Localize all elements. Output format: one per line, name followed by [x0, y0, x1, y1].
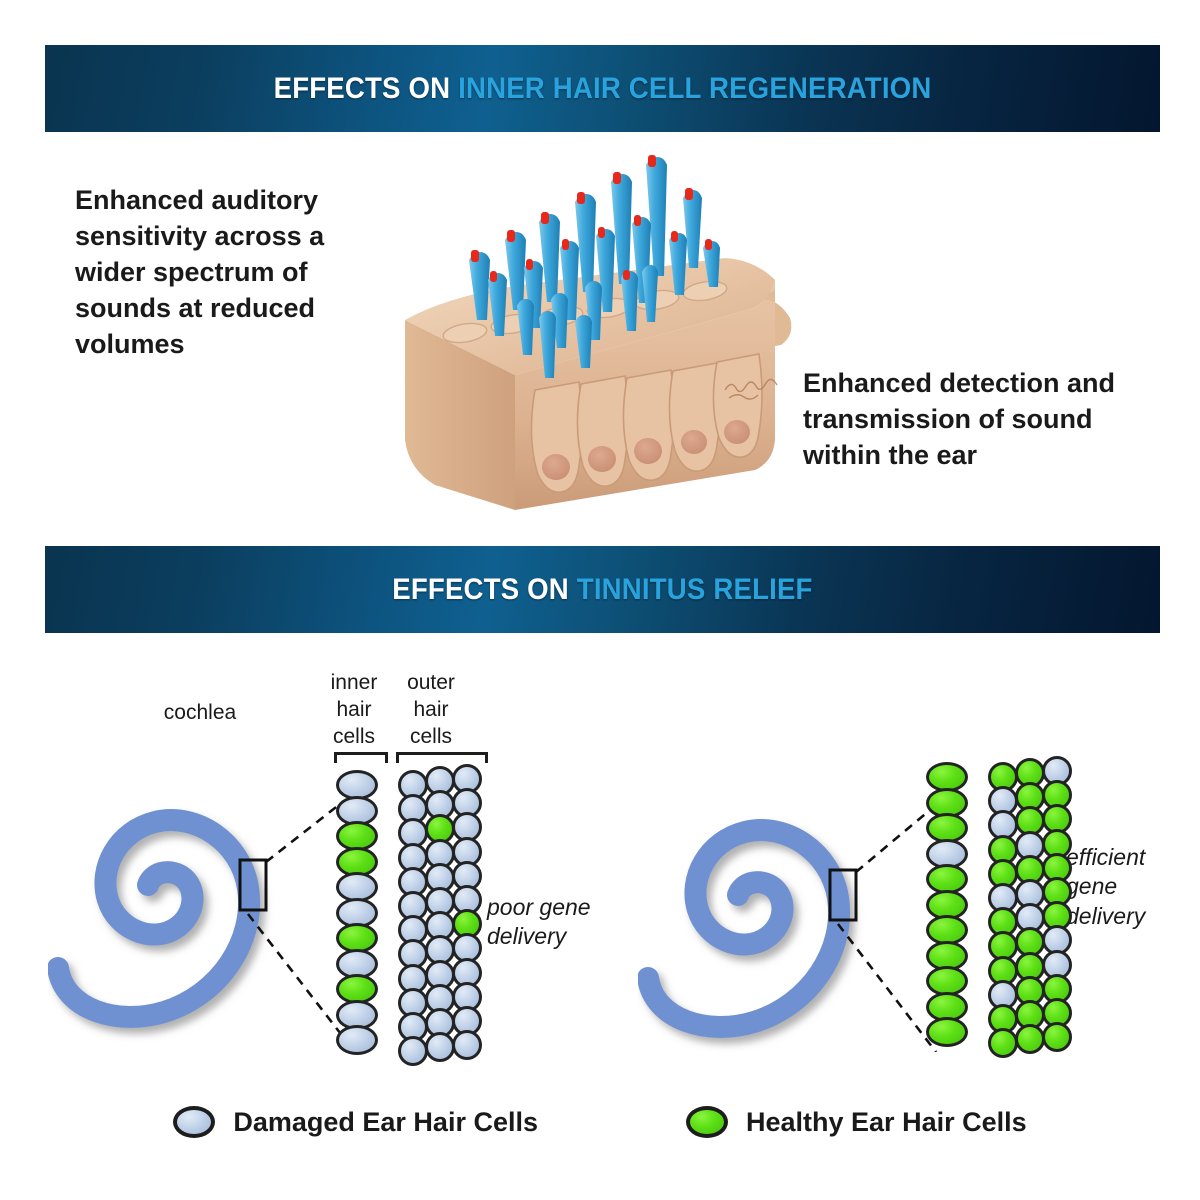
legend-item-healthy: Healthy Ear Hair Cells: [686, 1106, 1027, 1138]
legend-label-damaged: Damaged Ear Hair Cells: [233, 1107, 538, 1138]
banner-1-prefix: EFFECTS ON: [274, 72, 459, 105]
label-poor-gene-delivery: poor gene delivery: [487, 893, 617, 952]
banner-2-accent: TINNITUS RELIEF: [577, 573, 813, 606]
right-outer-hair-cell: [1015, 1024, 1045, 1054]
left-outer-hair-cell: [452, 1030, 482, 1060]
bracket-inner-hair-cells-left: [334, 752, 388, 763]
cell-grid-right: [890, 762, 1080, 1074]
banner-1-accent: INNER HAIR CELL REGENERATION: [458, 72, 931, 105]
hair-cell-columns-left: [300, 770, 490, 1070]
cell-grid-left: [300, 752, 490, 1072]
left-outer-hair-cell: [398, 1036, 428, 1066]
left-outer-hair-cell: [425, 1032, 455, 1062]
right-inner-hair-cell: [926, 1017, 968, 1047]
left-inner-hair-cell: [336, 1025, 378, 1055]
hair-cell-columns-right: [890, 762, 1080, 1062]
label-inner-hair-cells: inner hair cells: [318, 670, 390, 751]
cochlea-spiral-path-right: [648, 830, 839, 1027]
banner-2-text: EFFECTS ON TINNITUS RELIEF: [392, 573, 812, 607]
bracket-outer-hair-cells-left: [396, 752, 488, 763]
banner-inner-hair-cell-regeneration: EFFECTS ON INNER HAIR CELL REGENERATION: [45, 45, 1160, 132]
text-enhanced-auditory-sensitivity: Enhanced auditory sensitivity across a w…: [75, 183, 395, 363]
legend-label-healthy: Healthy Ear Hair Cells: [746, 1107, 1027, 1138]
banner-1-text: EFFECTS ON INNER HAIR CELL REGENERATION: [274, 72, 932, 106]
label-efficient-gene-delivery: efficient gene delivery: [1066, 843, 1196, 931]
right-outer-hair-cell: [988, 1028, 1018, 1058]
legend-item-damaged: Damaged Ear Hair Cells: [173, 1106, 538, 1138]
banner-tinnitus-relief: EFFECTS ON TINNITUS RELIEF: [45, 546, 1160, 633]
label-outer-hair-cells: outer hair cells: [395, 670, 467, 751]
text-enhanced-detection-transmission: Enhanced detection and transmission of s…: [803, 366, 1148, 474]
legend: Damaged Ear Hair Cells Healthy Ear Hair …: [0, 1106, 1200, 1138]
right-outer-hair-cell: [1042, 1022, 1072, 1052]
legend-swatch-healthy-icon: [686, 1106, 728, 1138]
label-cochlea: cochlea: [105, 700, 295, 727]
cochlea-spiral-path-left: [58, 820, 249, 1017]
inner-hair-cell-bundle-illustration: [395, 140, 800, 510]
banner-2-prefix: EFFECTS ON: [392, 573, 577, 606]
legend-swatch-damaged-icon: [173, 1106, 215, 1138]
